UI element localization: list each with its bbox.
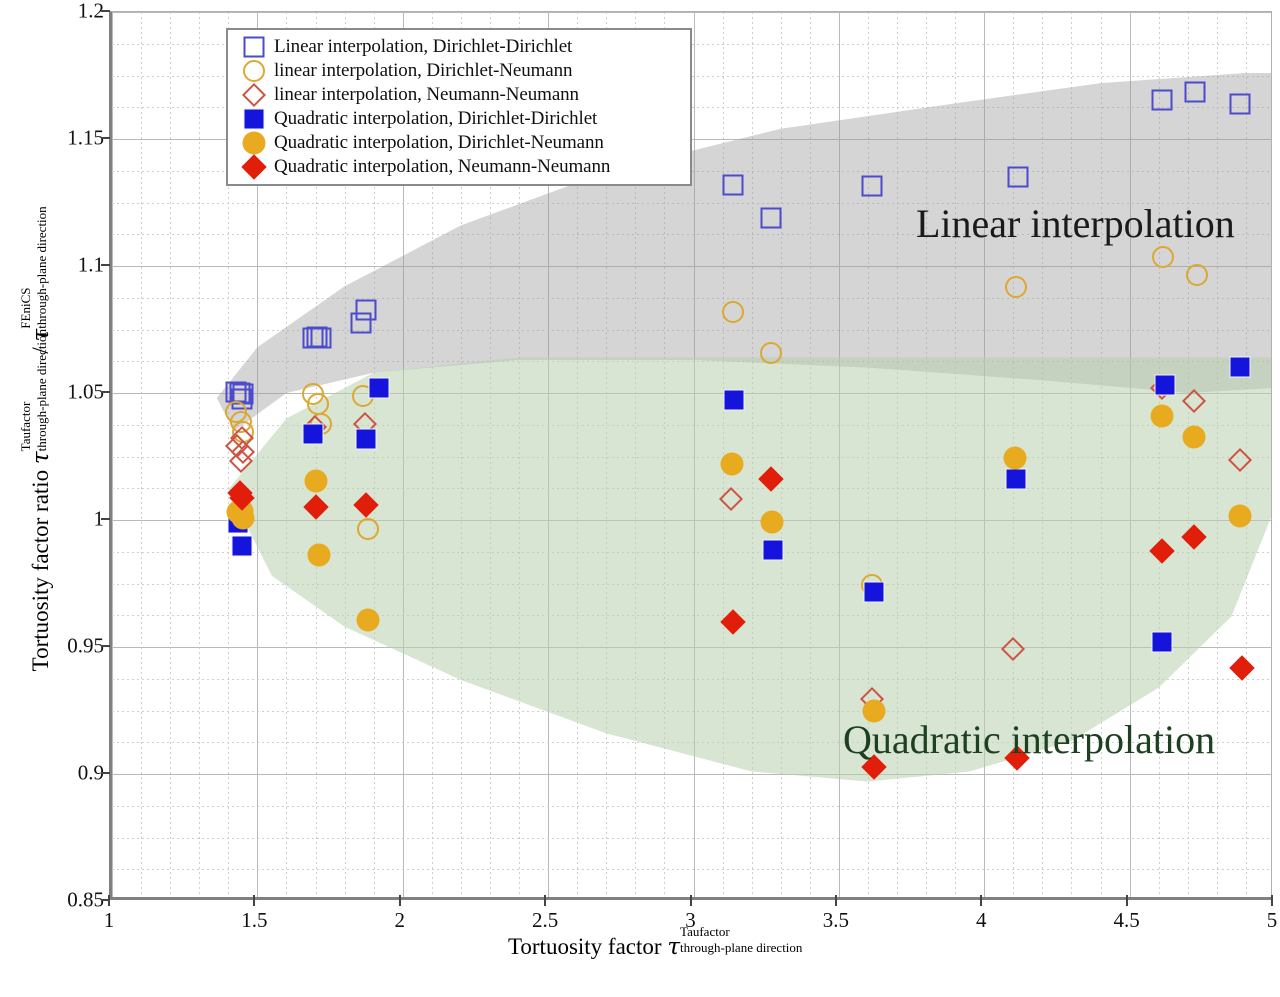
data-point-3-8 xyxy=(1005,468,1026,489)
data-point-1-8 xyxy=(357,518,379,540)
legend-marker-square-open-icon xyxy=(234,35,274,59)
data-point-4-9 xyxy=(1003,446,1026,469)
data-point-3-7 xyxy=(863,581,884,602)
data-point-1-12 xyxy=(1005,276,1027,298)
legend-item-label: Quadratic interpolation, Dirichlet-Diric… xyxy=(274,108,597,130)
y-tick-mark-2 xyxy=(101,645,110,647)
x-tick-mark-0 xyxy=(108,895,110,906)
x-axis-label: Tortuosity factor τTaufactorthrough-plan… xyxy=(0,934,1280,960)
data-point-4-5 xyxy=(356,608,379,631)
data-point-3-1 xyxy=(232,535,253,556)
data-point-3-10 xyxy=(1230,357,1251,378)
legend-marker-circle-fill-icon xyxy=(234,131,274,155)
legend-item-4[interactable]: Quadratic interpolation, Dirichlet-Neuma… xyxy=(234,131,682,155)
legend-item-label: Linear interpolation, Dirichlet-Dirichle… xyxy=(274,36,572,58)
data-point-4-4 xyxy=(308,544,331,567)
legend-item-3[interactable]: Quadratic interpolation, Dirichlet-Diric… xyxy=(234,107,682,131)
legend-item-2[interactable]: linear interpolation, Neumann-Neumann xyxy=(234,83,682,107)
x-axis-label-prefix: Tortuosity factor xyxy=(508,934,667,959)
legend-item-label: linear interpolation, Dirichlet-Neumann xyxy=(274,60,572,82)
legend-item-5[interactable]: Quadratic interpolation, Neumann-Neumann xyxy=(234,155,682,179)
y-tick-label-4: 1.05 xyxy=(14,380,104,405)
y-tick-mark-4 xyxy=(101,391,110,393)
x-tick-label-1: 1.5 xyxy=(219,908,289,933)
data-point-3-5 xyxy=(723,390,744,411)
y-tick-label-5: 1.1 xyxy=(14,253,104,278)
x-tick-mark-4 xyxy=(690,895,692,906)
y-axis-tau-1-scripts: Taufactorthrough-plane direction xyxy=(28,359,54,451)
data-point-4-2 xyxy=(232,506,255,529)
x-tick-label-3: 2.5 xyxy=(510,908,580,933)
data-point-2-8 xyxy=(1005,641,1022,658)
data-point-4-7 xyxy=(761,511,784,534)
data-point-5-9 xyxy=(1185,528,1203,546)
data-point-3-11 xyxy=(1152,631,1173,652)
x-tick-label-5: 3.5 xyxy=(801,908,871,933)
data-point-0-15 xyxy=(1230,93,1251,114)
legend-marker-diamond-open-icon xyxy=(234,83,274,107)
data-point-4-6 xyxy=(720,452,743,475)
data-point-1-13 xyxy=(1152,246,1174,268)
data-point-5-1 xyxy=(233,489,251,507)
legend-marker-diamond-fill-icon xyxy=(234,155,274,179)
figure-root: Tortuosity factor ratio τTaufactorthroug… xyxy=(0,0,1280,997)
data-point-5-8 xyxy=(1153,542,1171,560)
data-point-1-10 xyxy=(760,342,782,364)
y-tick-mark-6 xyxy=(101,137,110,139)
data-point-1-5 xyxy=(307,393,329,415)
data-point-0-9 xyxy=(722,175,743,196)
x-tick-label-6: 4 xyxy=(946,908,1016,933)
data-point-2-10 xyxy=(1186,392,1203,409)
legend-item-label: Quadratic interpolation, Dirichlet-Neuma… xyxy=(274,132,604,154)
x-tick-label-7: 4.5 xyxy=(1092,908,1162,933)
x-tick-label-2: 2 xyxy=(365,908,435,933)
data-point-5-10 xyxy=(1233,659,1251,677)
data-point-0-12 xyxy=(862,175,883,196)
legend-circle-open-icon xyxy=(243,60,265,82)
x-axis-tau-scripts: Taufactorthrough-plane direction xyxy=(680,934,772,960)
legend-circle-fill-icon xyxy=(243,132,266,155)
data-point-0-8 xyxy=(356,299,377,320)
data-point-0-13 xyxy=(1151,89,1172,110)
legend-item-0[interactable]: Linear interpolation, Dirichlet-Dirichle… xyxy=(234,35,682,59)
legend-item-label: linear interpolation, Neumann-Neumann xyxy=(274,84,579,106)
data-point-3-6 xyxy=(762,539,783,560)
y-tick-mark-1 xyxy=(101,772,110,774)
legend-square-fill-icon xyxy=(244,109,265,130)
data-point-3-3 xyxy=(355,429,376,450)
x-tick-label-0: 1 xyxy=(74,908,144,933)
data-point-4-11 xyxy=(1183,426,1206,449)
x-tick-label-4: 3 xyxy=(656,908,726,933)
data-point-5-5 xyxy=(762,470,780,488)
annotation-quadratic-interpolation: Quadratic interpolation xyxy=(843,716,1215,763)
data-point-4-10 xyxy=(1150,405,1173,428)
legend-item-label: Quadratic interpolation, Neumann-Neumann xyxy=(274,156,610,178)
data-point-5-2 xyxy=(307,498,325,516)
legend-marker-circle-open-icon xyxy=(234,59,274,83)
plot-area: Linear interpolation Quadratic interpola… xyxy=(109,11,1272,900)
data-point-0-6 xyxy=(310,328,331,349)
data-point-1-9 xyxy=(722,301,744,323)
legend-item-1[interactable]: linear interpolation, Dirichlet-Neumann xyxy=(234,59,682,83)
data-point-2-11 xyxy=(1232,451,1249,468)
data-point-4-3 xyxy=(304,469,327,492)
legend-diamond-open-icon xyxy=(246,87,263,104)
y-axis-tau-2-sup: FEniCS xyxy=(18,288,34,329)
data-point-3-4 xyxy=(368,378,389,399)
y-tick-label-7: 1.2 xyxy=(14,0,104,24)
x-tick-mark-3 xyxy=(544,895,546,906)
data-point-2-3 xyxy=(232,453,249,470)
x-tick-mark-2 xyxy=(399,895,401,906)
x-tick-label-8: 5 xyxy=(1237,908,1280,933)
y-tick-mark-7 xyxy=(101,10,110,12)
annotation-linear-interpolation: Linear interpolation xyxy=(916,200,1235,247)
data-point-5-4 xyxy=(724,613,742,631)
legend-diamond-fill-icon xyxy=(245,158,263,176)
data-point-0-10 xyxy=(760,208,781,229)
y-tick-label-1: 0.9 xyxy=(14,761,104,786)
y-tick-label-6: 1.15 xyxy=(14,126,104,151)
legend: Linear interpolation, Dirichlet-Dirichle… xyxy=(226,28,692,186)
y-tick-label-3: 1 xyxy=(14,507,104,532)
data-point-3-2 xyxy=(302,424,323,445)
y-axis-tau-1: τ xyxy=(28,451,54,464)
y-axis-tau-1-sup: Taufactor xyxy=(18,402,34,452)
y-axis-tau-2-scripts: FEniCSthrough-plane direction xyxy=(28,237,54,329)
legend-marker-square-fill-icon xyxy=(234,107,274,131)
data-point-1-14 xyxy=(1186,264,1208,286)
x-tick-mark-6 xyxy=(980,895,982,906)
data-point-0-14 xyxy=(1185,82,1206,103)
x-tick-mark-8 xyxy=(1271,895,1273,906)
y-tick-mark-3 xyxy=(101,518,110,520)
x-tick-mark-5 xyxy=(835,895,837,906)
data-point-4-12 xyxy=(1229,505,1252,528)
legend-square-open-icon xyxy=(244,37,265,58)
x-axis-tau: τ xyxy=(667,934,680,960)
x-axis-tau-sub: through-plane direction xyxy=(680,940,802,956)
x-tick-mark-7 xyxy=(1126,895,1128,906)
data-point-0-11 xyxy=(1007,166,1028,187)
y-tick-mark-5 xyxy=(101,264,110,266)
data-point-5-3 xyxy=(357,496,375,514)
data-point-2-6 xyxy=(723,491,740,508)
x-tick-mark-1 xyxy=(253,895,255,906)
y-tick-label-2: 0.95 xyxy=(14,634,104,659)
data-point-3-9 xyxy=(1154,375,1175,396)
